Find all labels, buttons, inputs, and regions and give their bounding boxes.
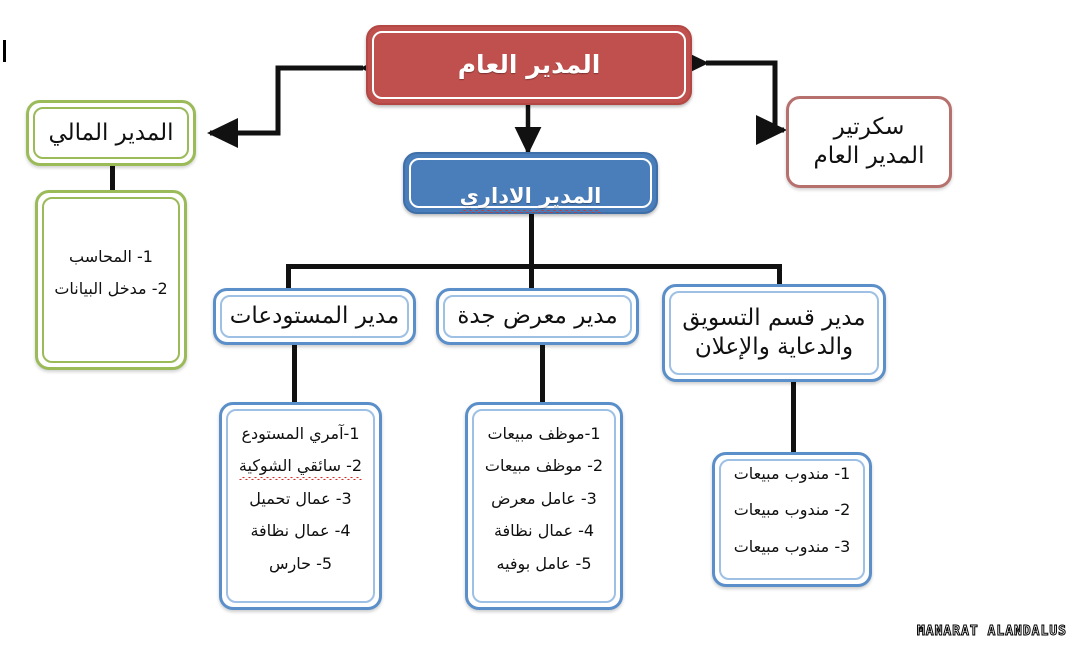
list-item: 1-آمري المستودع [232, 425, 369, 443]
connector-admin-stem [529, 213, 534, 267]
node-admin-manager-label: المدير الاداري [454, 157, 608, 210]
list-item: 3- مندوب مبيعات [725, 538, 859, 556]
list-item: 3- عامل معرض [478, 490, 610, 508]
list-item: 2- سائقي الشوكية [232, 457, 369, 475]
connector-bus-to-warehouse [286, 264, 291, 288]
node-admin-manager-text: المدير الاداري [460, 183, 602, 209]
node-marketing-manager-label: مدير قسم التسويق والدعاية والإعلان [676, 304, 871, 362]
list-item: 1- المحاسب [48, 248, 174, 266]
node-secretary[interactable]: سكرتير المدير العام [786, 96, 952, 188]
connector-bus-to-showroom [529, 264, 534, 288]
node-showroom-manager[interactable]: مدير معرض جدة [436, 288, 639, 345]
org-chart-canvas: المدير العام المدير المالي سكرتير المدير… [0, 0, 1077, 645]
list-warehouse-staff[interactable]: 1-آمري المستودع2- سائقي الشوكية3- عمال ت… [219, 402, 382, 610]
watermark-label: MANARAT ALANDALUS [917, 624, 1067, 639]
connector-marketing-to-staff [791, 382, 796, 452]
node-warehouse-manager-label: مدير المستودعات [224, 302, 405, 331]
connector-financial-to-staff [110, 163, 115, 190]
node-general-manager[interactable]: المدير العام [366, 25, 692, 105]
text-cursor-artifact [3, 40, 6, 62]
list-marketing-staff-items: 1- مندوب مبيعات2- مندوب مبيعات3- مندوب م… [715, 465, 869, 574]
connector-gm-to-financial [210, 68, 363, 133]
connector-admin-bus [286, 264, 782, 269]
list-marketing-staff[interactable]: 1- مندوب مبيعات2- مندوب مبيعات3- مندوب م… [712, 452, 872, 587]
list-item: 5- حارس [232, 555, 369, 573]
node-financial-manager[interactable]: المدير المالي [26, 100, 196, 166]
list-financial-staff[interactable]: 1- المحاسب2- مدخل البيانات [35, 190, 187, 370]
node-general-manager-label: المدير العام [452, 49, 607, 80]
node-showroom-manager-label: مدير معرض جدة [451, 302, 623, 331]
list-item: 3- عمال تحميل [232, 490, 369, 508]
node-financial-manager-label: المدير المالي [42, 119, 179, 148]
list-item: 2- مندوب مبيعات [725, 501, 859, 519]
connector-gm-to-secretary [706, 63, 784, 130]
list-item: 4- عمال نظافة [232, 522, 369, 540]
node-marketing-manager[interactable]: مدير قسم التسويق والدعاية والإعلان [662, 284, 886, 382]
list-item: 5- عامل بوفيه [478, 555, 610, 573]
list-warehouse-staff-items: 1-آمري المستودع2- سائقي الشوكية3- عمال ت… [222, 425, 379, 587]
node-admin-manager[interactable]: المدير الاداري [403, 152, 658, 214]
connector-showroom-to-staff [540, 345, 545, 402]
list-item: 1-موظف مبيعات [478, 425, 610, 443]
list-item: 2- مدخل البيانات [48, 280, 174, 298]
connector-warehouse-to-staff [292, 345, 297, 402]
list-item-text: 2- سائقي الشوكية [239, 457, 362, 475]
list-item: 4- عمال نظافة [478, 522, 610, 540]
list-item: 2- موظف مبيعات [478, 457, 610, 475]
node-warehouse-manager[interactable]: مدير المستودعات [213, 288, 416, 345]
list-item: 1- مندوب مبيعات [725, 465, 859, 483]
node-secretary-label: سكرتير المدير العام [808, 113, 931, 171]
list-financial-staff-items: 1- المحاسب2- مدخل البيانات [38, 248, 184, 313]
list-showroom-staff[interactable]: 1-موظف مبيعات2- موظف مبيعات3- عامل معرض4… [465, 402, 623, 610]
list-showroom-staff-items: 1-موظف مبيعات2- موظف مبيعات3- عامل معرض4… [468, 425, 620, 587]
